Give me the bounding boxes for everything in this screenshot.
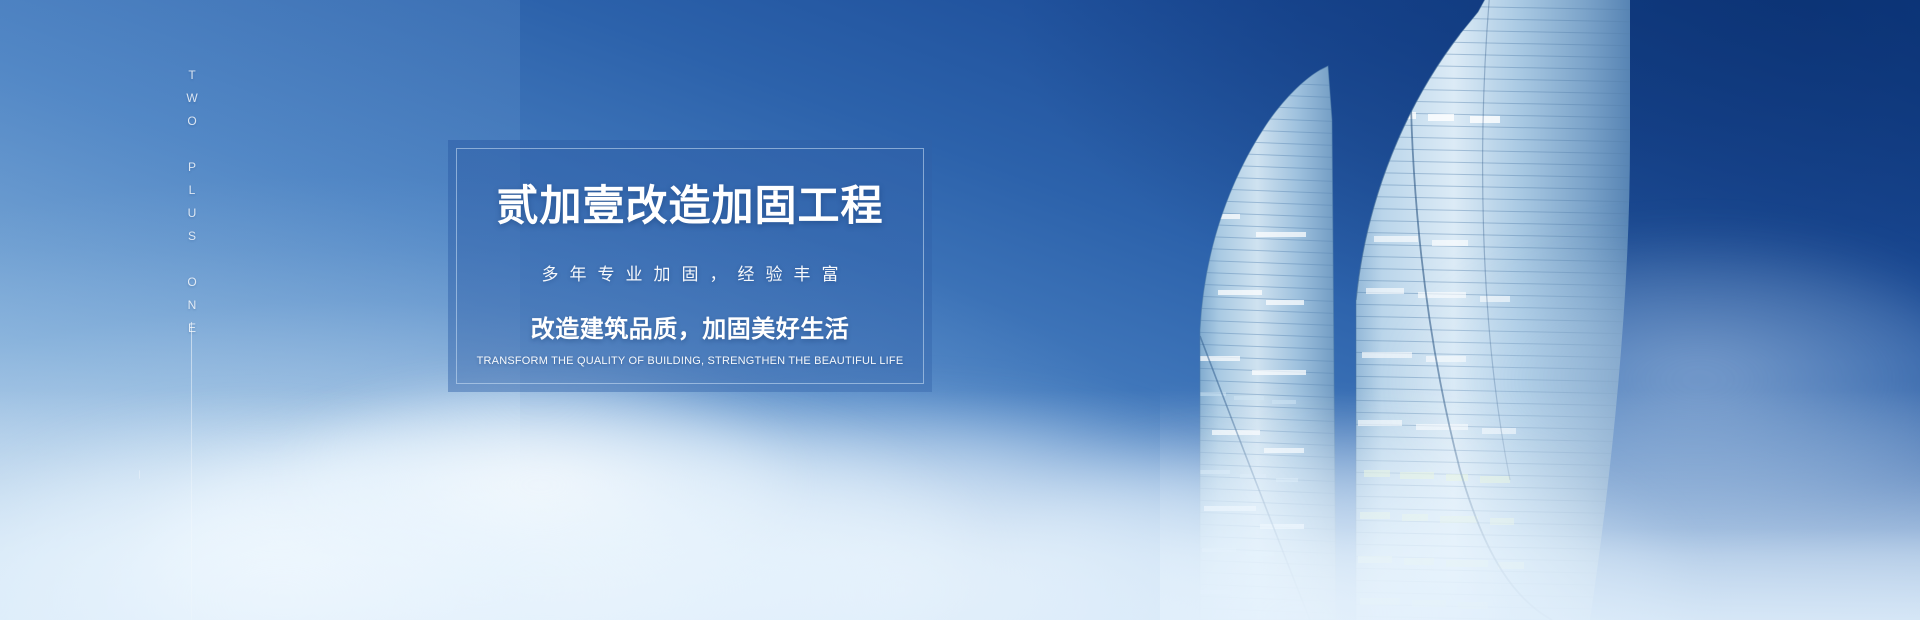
cloud-center-right [980, 440, 1680, 620]
sky-haze-left [0, 0, 520, 620]
headline-panel: 贰加壹改造加固工程 多年专业加固，经验丰富 改造建筑品质，加固美好生活 TRAN… [448, 140, 932, 392]
hero-banner: TWO PLUS ONE 一 贰加壹改造加固工程 多年专业加固，经验丰富 改造建… [0, 0, 1920, 620]
cloud-center [520, 410, 1280, 620]
headline-subtitle: 多年专业加固，经验丰富 [531, 260, 850, 285]
vertical-divider-line [191, 322, 192, 620]
headline-title: 贰加壹改造加固工程 [496, 184, 883, 228]
vertical-brand-mark: 一 [133, 470, 146, 480]
panel-content: 贰加壹改造加固工程 多年专业加固，经验丰富 改造建筑品质，加固美好生活 TRAN… [448, 140, 932, 392]
cloud-left-main [150, 410, 970, 620]
cloud-far-left [0, 430, 560, 620]
sky-haze-top-right [1020, 0, 1920, 360]
cloud-wisp [300, 390, 780, 580]
vertical-brand-text: TWO PLUS ONE [186, 68, 198, 344]
headline-tagline: 改造建筑品质，加固美好生活 [531, 309, 850, 344]
vertical-brand: TWO PLUS ONE [170, 68, 214, 318]
headline-english-caption: TRANSFORM THE QUALITY OF BUILDING, STREN… [477, 355, 904, 367]
cloud-bank-base [0, 390, 1920, 620]
skyscraper-towers-image [1160, 0, 1920, 620]
cloud-right [1420, 250, 1920, 510]
